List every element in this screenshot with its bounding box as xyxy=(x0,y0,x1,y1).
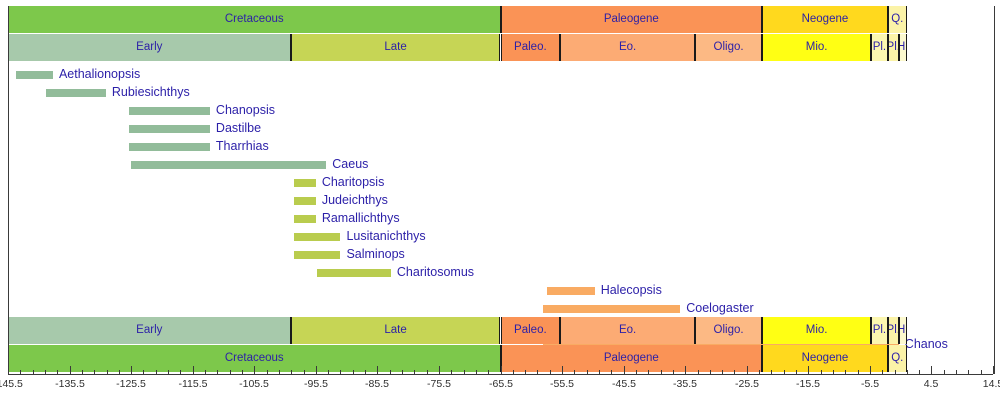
period-label: Paleogene xyxy=(604,14,659,26)
axis-tick-major xyxy=(439,366,440,374)
axis-tick-minor xyxy=(476,370,477,374)
epoch-early: Early xyxy=(8,317,291,344)
axis-tick-minor xyxy=(587,370,588,374)
axis-tick-major xyxy=(747,366,748,374)
time-axis: -145.5-135.5-125.5-115.5-105.5-95.5-85.5… xyxy=(0,374,1000,420)
taxon-row: Caeus xyxy=(0,158,1000,172)
epoch-label: Late xyxy=(384,42,406,54)
taxon-label: Judeichthys xyxy=(322,193,388,208)
axis-tick-minor xyxy=(242,370,243,374)
epoch-pl: Pl. xyxy=(888,317,899,344)
axis-tick-major xyxy=(685,366,686,374)
axis-tick-minor xyxy=(611,370,612,374)
epoch-label: Pl. xyxy=(888,42,899,54)
period-neogene: Neogene xyxy=(762,6,888,33)
axis-tick-minor xyxy=(784,370,785,374)
axis-tick-minor xyxy=(956,370,957,374)
axis-tick-minor xyxy=(20,370,21,374)
axis-tick-minor xyxy=(968,370,969,374)
timescale-periods-top: CretaceousPaleogeneNeogeneQ. xyxy=(0,6,1000,33)
axis-tick-label: -45.5 xyxy=(612,378,636,390)
axis-tick-minor xyxy=(33,370,34,374)
epoch-early: Early xyxy=(8,34,291,61)
axis-tick-minor xyxy=(365,370,366,374)
taxon-label: Coelogaster xyxy=(686,301,753,316)
epoch-label: Pl. xyxy=(873,325,886,337)
epoch-paleo: Paleo. xyxy=(501,34,561,61)
taxon-row: Coelogaster xyxy=(0,302,1000,316)
taxon-row: Lusitanichthys xyxy=(0,230,1000,244)
taxon-label: Dastilbe xyxy=(216,121,261,136)
axis-tick-minor xyxy=(574,370,575,374)
axis-tick-label: -35.5 xyxy=(673,378,697,390)
axis-tick-major xyxy=(808,366,809,374)
axis-tick-minor xyxy=(402,370,403,374)
range-bar[interactable] xyxy=(294,197,316,205)
period-label: Neogene xyxy=(802,353,849,365)
range-bar[interactable] xyxy=(46,89,106,97)
axis-tick-minor xyxy=(57,370,58,374)
axis-tick-minor xyxy=(525,370,526,374)
range-bar[interactable] xyxy=(317,269,391,277)
taxon-label: Salminops xyxy=(346,247,404,262)
axis-tick-minor xyxy=(427,370,428,374)
axis-tick-minor xyxy=(599,370,600,374)
taxon-label: Rubiesichthys xyxy=(112,85,190,100)
axis-tick-minor xyxy=(328,370,329,374)
period-label: Cretaceous xyxy=(225,353,284,365)
axis-tick-label: -105.5 xyxy=(239,378,269,390)
period-neogene: Neogene xyxy=(762,345,888,372)
epoch-label: Late xyxy=(384,325,406,337)
axis-tick-minor xyxy=(771,370,772,374)
taxon-label: Ramallichthys xyxy=(322,211,400,226)
axis-tick-minor xyxy=(82,370,83,374)
epoch-label: H. xyxy=(899,325,907,337)
epoch-late: Late xyxy=(291,34,501,61)
taxon-label: Charitosomus xyxy=(397,265,474,280)
epoch-label: Pl. xyxy=(873,42,886,54)
range-bar[interactable] xyxy=(294,251,340,259)
period-label: Cretaceous xyxy=(225,14,284,26)
axis-tick-minor xyxy=(180,370,181,374)
axis-tick-minor xyxy=(636,370,637,374)
axis-tick-major xyxy=(931,366,932,374)
axis-tick-minor xyxy=(759,370,760,374)
axis-tick-minor xyxy=(291,370,292,374)
axis-line xyxy=(8,374,993,375)
axis-tick-minor xyxy=(451,370,452,374)
axis-tick-label: -115.5 xyxy=(179,378,208,390)
axis-tick-minor xyxy=(513,370,514,374)
axis-tick-minor xyxy=(340,370,341,374)
period-cretaceous: Cretaceous xyxy=(8,6,501,33)
epoch-label: Oligo. xyxy=(714,325,744,337)
axis-tick-minor xyxy=(796,370,797,374)
axis-tick-label: -55.5 xyxy=(550,378,574,390)
epoch-oligo: Oligo. xyxy=(695,34,762,61)
axis-tick-major xyxy=(8,366,9,374)
timescale-epochs-top: EarlyLatePaleo.Eo.Oligo.Mio.Pl.Pl.H. xyxy=(0,34,1000,61)
epoch-h: H. xyxy=(899,317,907,344)
axis-tick-minor xyxy=(304,370,305,374)
taxon-label: Tharrhias xyxy=(216,139,269,154)
axis-tick-minor xyxy=(279,370,280,374)
epoch-label: Early xyxy=(136,42,162,54)
epoch-label: Paleo. xyxy=(514,325,547,337)
epoch-pl: Pl. xyxy=(871,317,888,344)
axis-tick-major xyxy=(131,366,132,374)
axis-tick-major xyxy=(870,366,871,374)
taxon-row: Charitopsis xyxy=(0,176,1000,190)
taxa-range-plot: AethalionopsisRubiesichthysChanopsisDast… xyxy=(0,68,1000,313)
epoch-label: Eo. xyxy=(619,325,636,337)
axis-tick-minor xyxy=(464,370,465,374)
axis-tick-minor xyxy=(698,370,699,374)
epoch-eo: Eo. xyxy=(560,317,695,344)
epoch-paleo: Paleo. xyxy=(501,317,561,344)
range-bar[interactable] xyxy=(294,233,340,241)
axis-tick-minor xyxy=(143,370,144,374)
axis-tick-label: -145.5 xyxy=(0,378,23,390)
axis-tick-minor xyxy=(119,370,120,374)
epoch-label: Pl. xyxy=(888,325,899,337)
period-q: Q. xyxy=(888,6,907,33)
axis-tick-label: -25.5 xyxy=(735,378,759,390)
period-label: Q. xyxy=(891,353,903,365)
taxon-label: Caeus xyxy=(332,157,368,172)
axis-tick-minor xyxy=(414,370,415,374)
axis-tick-major xyxy=(193,366,194,374)
axis-tick-minor xyxy=(673,370,674,374)
epoch-label: Early xyxy=(136,325,162,337)
taxon-label: Lusitanichthys xyxy=(346,229,425,244)
taxon-row: Tharrhias xyxy=(0,140,1000,154)
taxon-label: Chanopsis xyxy=(216,103,275,118)
epoch-oligo: Oligo. xyxy=(695,317,762,344)
epoch-mio: Mio. xyxy=(762,34,871,61)
range-bar[interactable] xyxy=(294,179,316,187)
axis-tick-minor xyxy=(919,370,920,374)
axis-tick-minor xyxy=(267,370,268,374)
epoch-label: Mio. xyxy=(806,42,828,54)
period-paleogene: Paleogene xyxy=(501,6,763,33)
axis-tick-minor xyxy=(845,370,846,374)
epoch-label: Oligo. xyxy=(714,42,744,54)
axis-tick-major xyxy=(993,366,994,374)
timescale-epochs-bottom: EarlyLatePaleo.Eo.Oligo.Mio.Pl.Pl.H. xyxy=(0,317,1000,344)
axis-tick-major xyxy=(562,366,563,374)
range-bar[interactable] xyxy=(129,107,210,115)
range-bar[interactable] xyxy=(16,71,53,79)
taxon-row: Charitosomus xyxy=(0,266,1000,280)
epoch-label: H. xyxy=(899,42,907,54)
axis-tick-minor xyxy=(353,370,354,374)
axis-tick-major xyxy=(70,366,71,374)
axis-tick-label: -95.5 xyxy=(304,378,328,390)
axis-tick-minor xyxy=(661,370,662,374)
axis-tick-minor xyxy=(205,370,206,374)
taxon-row: Chanopsis xyxy=(0,104,1000,118)
taxon-row: Dastilbe xyxy=(0,122,1000,136)
range-bar[interactable] xyxy=(294,215,316,223)
axis-tick-minor xyxy=(944,370,945,374)
axis-tick-major xyxy=(501,366,502,374)
period-label: Neogene xyxy=(802,14,849,26)
axis-tick-minor xyxy=(488,370,489,374)
taxon-row: Judeichthys xyxy=(0,194,1000,208)
axis-tick-minor xyxy=(537,370,538,374)
epoch-label: Mio. xyxy=(806,325,828,337)
axis-tick-minor xyxy=(821,370,822,374)
taxon-row: Ramallichthys xyxy=(0,212,1000,226)
range-bar[interactable] xyxy=(547,287,595,295)
axis-tick-minor xyxy=(895,370,896,374)
epoch-late: Late xyxy=(291,317,501,344)
axis-tick-minor xyxy=(107,370,108,374)
epoch-pl: Pl. xyxy=(871,34,888,61)
axis-tick-minor xyxy=(710,370,711,374)
axis-tick-major xyxy=(254,366,255,374)
axis-tick-minor xyxy=(45,370,46,374)
axis-tick-label: -135.5 xyxy=(55,378,85,390)
axis-tick-minor xyxy=(94,370,95,374)
epoch-label: Paleo. xyxy=(514,42,547,54)
axis-tick-label: -85.5 xyxy=(365,378,389,390)
axis-tick-label: 4.5 xyxy=(924,378,939,390)
taxon-row: Salminops xyxy=(0,248,1000,262)
taxon-label: Aethalionopsis xyxy=(59,67,140,82)
epoch-label: Eo. xyxy=(619,42,636,54)
axis-tick-minor xyxy=(907,370,908,374)
period-label: Paleogene xyxy=(604,353,659,365)
range-bar[interactable] xyxy=(129,143,210,151)
axis-tick-label: -5.5 xyxy=(861,378,879,390)
axis-tick-minor xyxy=(981,370,982,374)
range-bar[interactable] xyxy=(543,305,680,313)
taxon-row: Halecopsis xyxy=(0,284,1000,298)
axis-tick-minor xyxy=(168,370,169,374)
axis-tick-minor xyxy=(390,370,391,374)
axis-tick-minor xyxy=(858,370,859,374)
axis-tick-label: -125.5 xyxy=(116,378,146,390)
timescale-periods-bottom: CretaceousPaleogeneNeogeneQ. xyxy=(0,345,1000,372)
axis-tick-label: -65.5 xyxy=(489,378,513,390)
taxon-row: Aethalionopsis xyxy=(0,68,1000,82)
axis-tick-minor xyxy=(550,370,551,374)
epoch-eo: Eo. xyxy=(560,34,695,61)
axis-tick-minor xyxy=(722,370,723,374)
period-label: Q. xyxy=(891,14,903,26)
epoch-pl: Pl. xyxy=(888,34,899,61)
axis-tick-minor xyxy=(217,370,218,374)
axis-tick-label: 14.5 xyxy=(983,378,1000,390)
taxon-label: Charitopsis xyxy=(322,175,385,190)
axis-tick-label: -15.5 xyxy=(796,378,820,390)
taxon-row: Rubiesichthys xyxy=(0,86,1000,100)
epoch-h: H. xyxy=(899,34,907,61)
axis-tick-minor xyxy=(734,370,735,374)
axis-tick-minor xyxy=(156,370,157,374)
geologic-range-chart: CretaceousPaleogeneNeogeneQ. EarlyLatePa… xyxy=(0,0,1000,420)
axis-tick-label: -75.5 xyxy=(427,378,451,390)
axis-tick-minor xyxy=(648,370,649,374)
epoch-mio: Mio. xyxy=(762,317,871,344)
axis-tick-major xyxy=(624,366,625,374)
axis-tick-minor xyxy=(230,370,231,374)
axis-tick-minor xyxy=(833,370,834,374)
period-q: Q. xyxy=(888,345,907,372)
taxon-label: Halecopsis xyxy=(601,283,662,298)
period-paleogene: Paleogene xyxy=(501,345,763,372)
axis-tick-major xyxy=(316,366,317,374)
range-bar[interactable] xyxy=(129,125,210,133)
range-bar[interactable] xyxy=(131,161,326,169)
axis-tick-minor xyxy=(882,370,883,374)
axis-tick-major xyxy=(377,366,378,374)
